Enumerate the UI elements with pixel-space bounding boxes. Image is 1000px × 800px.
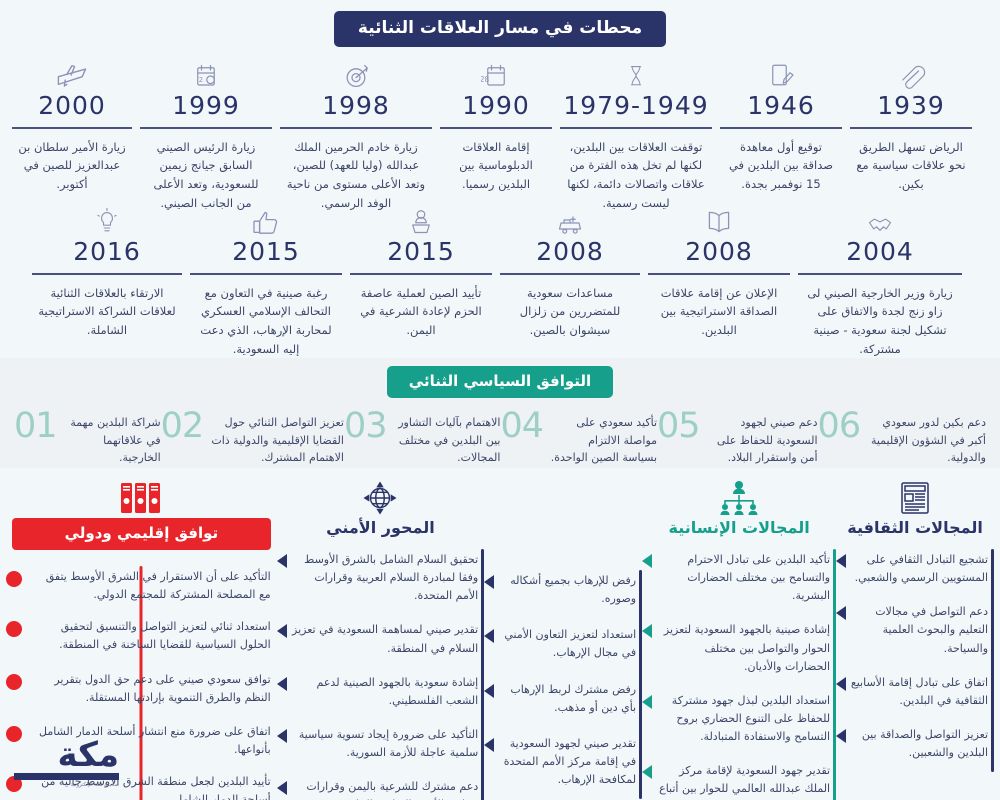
timeline-year: 2015 [350,238,492,270]
timeline-description: الارتقاء بالعلاقات الثنائية لعلاقات الشر… [32,284,182,340]
timeline-year: 2008 [500,238,640,270]
column-item: تقدير جهود السعودية لإقامة مركز الملك عب… [642,762,836,800]
thumbs-up-icon [190,198,342,238]
bullet-dot [6,621,22,637]
timeline-description: الإعلان عن إقامة علاقات الصداقة الاسترات… [648,284,790,340]
timeline-year: 1946 [720,92,842,124]
timeline-description: زيارة وزير الخارجية الصيني لى زاو زنج لج… [798,284,962,359]
timeline-description: زيارة الأمير سلطان بن عبدالعزيز للصين في… [12,138,132,194]
timeline-entry: 281990إقامة العلاقات الدبلوماسية بين الب… [436,52,556,194]
column-item: دعم مشترك للشرعية باليمن وقرارات مجلس ال… [277,778,485,800]
column-item-text: تحقيق السلام الشامل بالشرق الأوسط وفقا ل… [287,551,485,605]
timeline-entry: 2008مساعدات سعودية للمتضررين من زلزال سي… [496,198,644,340]
bullet-arrow [836,677,846,691]
column-item-text: إشادة صينية بالجهود السعودية لتعزيز الحو… [652,621,836,675]
timeline-entry: 2015تأييد الصين لعملية عاصفة الحزم لإعاد… [346,198,496,340]
column-item: استعداد ثنائي لتعزيز التواصل والتنسيق لت… [6,618,277,654]
org-chart-icon [642,478,836,518]
bullet-dot [6,571,22,587]
column-item: تشجيع التبادل الثقافي على المستويين الرس… [836,551,994,587]
bullet-arrow [836,554,846,568]
timeline-row-2: 2016الارتقاء بالعلاقات الثنائية لعلاقات … [28,198,968,358]
column-item-text: استعداد البلدين لبذل جهود مشتركة للحفاظ … [652,692,836,746]
column-item: تعزيز التواصل والصداقة بين البلدين والشع… [836,726,994,762]
column-items: تشجيع التبادل الثقافي على المستويين الرس… [836,551,994,778]
column-item-text: اتفاق على تبادل إقامة الأسابيع الثقافية … [846,674,994,710]
bullet-arrow [277,781,287,795]
timeline-description: تأييد الصين لعملية عاصفة الحزم لإعادة ال… [350,284,492,340]
column-security-axis-2: رفض للإرهاب بجميع أشكاله وصوره.استعداد ل… [484,478,642,800]
timeline-rule [560,127,712,129]
bullet-arrow [277,677,287,691]
column-item-text: إشادة سعودية بالجهود الصينية لدعم الشعب … [287,674,485,710]
consensus-title: التوافق السياسي الثنائي [387,366,613,398]
bottom-section: توافق إقليمي ودوليالتأكيد على أن الاستقر… [0,470,1000,800]
timeline-rule [12,127,132,129]
column-body: رفض للإرهاب بجميع أشكاله وصوره.استعداد ل… [484,570,642,800]
consensus-text: دعم صيني لجهود السعودية للحفاظ على أمن و… [707,410,818,467]
speaker-podium-icon [350,198,492,238]
column-item: تقدير صيني لجهود السعودية في إقامة مركز … [484,735,642,789]
consensus-item: 04تأكيد سعودي على مواصلة الالتزام بسياسة… [500,410,657,467]
signing-pen-icon [720,52,842,92]
column-item-text: توافق سعودي صيني على دعم حق الدول بتقرير… [22,671,277,707]
bullet-arrow [642,695,652,709]
timeline-rule [32,273,182,275]
infographic-page: محطات في مسار العلاقات الثنائية 2000زيار… [0,0,1000,800]
timeline-year: 1979-1949 [560,92,712,124]
timeline-description: رغبة صينية في التعاون مع التحالف الإسلام… [190,284,342,359]
folders-icon [6,478,277,518]
page-title: محطات في مسار العلاقات الثنائية [334,11,666,47]
consensus-band: التوافق السياسي الثنائي 01شراكة البلدين … [0,358,1000,468]
column-body: تأكيد البلدين على تبادل الاحترام والتسام… [642,549,836,800]
timeline-year: 2016 [32,238,182,270]
column-humanitarian: المجالات الإنسانيةتأكيد البلدين على تباد… [642,478,836,800]
consensus-number: 03 [344,410,387,442]
timeline-entry: 2000زيارة الأمير سلطان بن عبدالعزيز للصي… [8,52,136,194]
bullet-arrow [642,624,652,638]
calendar-28-icon: 28 [440,52,552,92]
bullet-arrow [642,765,652,779]
timeline-entry: 2016الارتقاء بالعلاقات الثنائية لعلاقات … [28,198,186,340]
aid-truck-icon [500,198,640,238]
column-item: اتفاق على تبادل إقامة الأسابيع الثقافية … [836,674,994,710]
timeline-description: إقامة العلاقات الدبلوماسية بين البلدين ر… [440,138,552,194]
consensus-number: 01 [14,410,57,442]
column-item-text: دعم التواصل في مجالات التعليم والبحوث ال… [846,603,994,657]
column-item: التأكيد على ضرورة إيجاد تسوية سياسية سلم… [277,726,485,762]
timeline-row-1: 2000زيارة الأمير سلطان بن عبدالعزيز للصي… [8,52,992,212]
timeline-entry: 1939الرياض تسهل الطريق نحو علاقات سياسية… [846,52,976,194]
timeline-rule [140,127,272,129]
lightbulb-icon [32,198,182,238]
timeline-year: 1998 [280,92,432,124]
timeline-rule [500,273,640,275]
consensus-item: 05دعم صيني لجهود السعودية للحفاظ على أمن… [657,410,818,467]
column-item-text: تقدير جهود السعودية لإقامة مركز الملك عب… [652,762,836,800]
column-body: تشجيع التبادل الثقافي على المستويين الرس… [836,549,994,778]
timeline-year: 1990 [440,92,552,124]
consensus-banner-wrap: التوافق السياسي الثنائي [0,358,1000,398]
bottom-columns: توافق إقليمي ودوليالتأكيد على أن الاستقر… [0,470,1000,800]
column-head-spacer [484,478,642,570]
consensus-text: شراكة البلدين مهمة في علاقاتهما الخارجية… [64,410,161,467]
timeline-entry: 1946توقيع أول معاهدة صداقة بين البلدين ف… [716,52,846,194]
timeline-year: 2008 [648,238,790,270]
timeline-year: 2004 [798,238,962,270]
timeline-row-1-items: 2000زيارة الأمير سلطان بن عبدالعزيز للصي… [8,52,992,212]
timeline-entry: 1979-1949توقفت العلاقات بين البلدين، لكن… [556,52,716,212]
column-title: المجالات الإنسانية [642,518,836,549]
bullet-dot [6,674,22,690]
column-item: دعم التواصل في مجالات التعليم والبحوث ال… [836,603,994,657]
column-title: توافق إقليمي ودولي [12,518,271,550]
column-item: إشادة سعودية بالجهود الصينية لدعم الشعب … [277,674,485,710]
timeline-entry: 21999زيارة الرئيس الصيني السابق جيانج زي… [136,52,276,212]
column-title: المحور الأمني [277,518,485,549]
timeline-rule [350,273,492,275]
column-body: تحقيق السلام الشامل بالشرق الأوسط وفقا ل… [277,549,485,800]
consensus-text: تأكيد سعودي على مواصلة الالتزام بسياسة ا… [550,410,657,467]
column-item: تحقيق السلام الشامل بالشرق الأوسط وفقا ل… [277,551,485,605]
newspaper-icon [836,478,994,518]
consensus-text: الاهتمام بآليات التشاور بين البلدين في م… [393,410,500,467]
timeline-year: 1999 [140,92,272,124]
timeline-year: 2000 [12,92,132,124]
column-security-axis: المحور الأمنيتحقيق السلام الشامل بالشرق … [277,478,485,800]
column-item-text: التأكيد على أن الاستقرار في الشرق الأوسط… [22,568,277,604]
calendar-icon: 2 [140,52,272,92]
bullet-arrow [484,738,494,752]
consensus-number: 04 [500,410,543,442]
column-item: تقدير صيني لمساهمة السعودية في تعزيز الس… [277,621,485,657]
svg-text:28: 28 [481,75,489,84]
column-item-text: استعداد لتعزيز التعاون الأمني في مجال ال… [494,626,642,662]
column-item-text: التأكيد على ضرورة إيجاد تسوية سياسية سلم… [287,726,485,762]
timeline-description: توقيع أول معاهدة صداقة بين البلدين في 15… [720,138,842,194]
consensus-item: 06دعم بكين لدور سعودي أكبر في الشؤون الإ… [818,410,986,467]
consensus-item: 02تعزيز التواصل الثنائي حول القضايا الإق… [161,410,344,467]
timeline-entry: 2015رغبة صينية في التعاون مع التحالف الإ… [186,198,346,358]
timeline-rule [850,127,972,129]
column-item-text: تعزيز التواصل والصداقة بين البلدين والشع… [846,726,994,762]
column-item: توافق سعودي صيني على دعم حق الدول بتقرير… [6,671,277,707]
column-item: التأكيد على أن الاستقرار في الشرق الأوسط… [6,568,277,604]
timeline-rule [720,127,842,129]
target-icon [280,52,432,92]
logo-subtitle: صحيفة مكة الإلكترونية [14,780,119,788]
timeline-rule [280,127,432,129]
bullet-arrow [836,606,846,620]
timeline-entry: 2008الإعلان عن إقامة علاقات الصداقة الاس… [644,198,794,340]
bullet-arrow [277,624,287,638]
column-cultural: المجالات الثقافيةتشجيع التبادل الثقافي ع… [836,478,994,778]
open-book-icon [648,198,790,238]
column-item-text: رفض مشترك لربط الإرهاب بأي دين أو مذهب. [494,681,642,717]
bullet-arrow [484,684,494,698]
timeline-rule [190,273,342,275]
makkah-logo: مكة صحيفة مكة الإلكترونية [14,740,119,788]
globe-compass-icon [277,478,485,518]
handshake-icon [798,198,962,238]
column-title: المجالات الثقافية [836,518,994,549]
column-item-text: تأكيد البلدين على تبادل الاحترام والتسام… [652,551,836,605]
hourglass-icon [560,52,712,92]
consensus-item: 01شراكة البلدين مهمة في علاقاتهما الخارج… [14,410,161,467]
header-banner-wrap: محطات في مسار العلاقات الثنائية [0,0,1000,47]
column-item-text: دعم مشترك للشرعية باليمن وقرارات مجلس ال… [287,778,485,800]
timeline-rule [648,273,790,275]
consensus-number: 02 [161,410,204,442]
timeline-year: 1939 [850,92,972,124]
column-item-text: تقدير صيني لمساهمة السعودية في تعزيز الس… [287,621,485,657]
timeline-entry: 2004زيارة وزير الخارجية الصيني لى زاو زن… [794,198,966,358]
bullet-arrow [484,629,494,643]
column-item: إشادة صينية بالجهود السعودية لتعزيز الحو… [642,621,836,675]
consensus-number: 05 [657,410,700,442]
bullet-arrow [277,729,287,743]
column-items: تأكيد البلدين على تبادل الاحترام والتسام… [642,551,836,800]
bullet-arrow [836,729,846,743]
column-item-text: تقدير صيني لجهود السعودية في إقامة مركز … [494,735,642,789]
consensus-text: تعزيز التواصل الثنائي حول القضايا الإقلي… [210,410,344,467]
bullet-arrow [277,554,287,568]
column-item-text: استعداد ثنائي لتعزيز التواصل والتنسيق لت… [22,618,277,654]
column-item: استعداد البلدين لبذل جهود مشتركة للحفاظ … [642,692,836,746]
airplane-icon [12,52,132,92]
timeline-rule [798,273,962,275]
column-item: رفض مشترك لربط الإرهاب بأي دين أو مذهب. [484,681,642,717]
bullet-arrow [642,554,652,568]
column-item-text: رفض للإرهاب بجميع أشكاله وصوره. [494,572,642,608]
timeline-rule [440,127,552,129]
timeline-description: الرياض تسهل الطريق نحو علاقات سياسية مع … [850,138,972,194]
column-item: استعداد لتعزيز التعاون الأمني في مجال ال… [484,626,642,662]
timeline-year: 2015 [190,238,342,270]
timeline-description: مساعدات سعودية للمتضررين من زلزال سيشوان… [500,284,640,340]
timeline-entry: 1998زيارة خادم الحرمين الملك عبدالله (ول… [276,52,436,212]
consensus-number: 06 [818,410,861,442]
column-item-text: تشجيع التبادل الثقافي على المستويين الرس… [846,551,994,587]
column-items: تحقيق السلام الشامل بالشرق الأوسط وفقا ل… [277,551,485,800]
column-item: رفض للإرهاب بجميع أشكاله وصوره. [484,572,642,608]
column-items: رفض للإرهاب بجميع أشكاله وصوره.استعداد ل… [484,572,642,800]
consensus-items: 01شراكة البلدين مهمة في علاقاتهما الخارج… [0,398,1000,467]
bullet-arrow [484,575,494,589]
consensus-item: 03الاهتمام بآليات التشاور بين البلدين في… [344,410,501,467]
timeline-row-2-items: 2016الارتقاء بالعلاقات الثنائية لعلاقات … [28,198,968,358]
consensus-text: دعم بكين لدور سعودي أكبر في الشؤون الإقل… [867,410,986,467]
svg-text:2: 2 [199,76,203,84]
logo-wordmark: مكة [14,740,119,771]
paperclip-icon [850,52,972,92]
column-item: تأكيد البلدين على تبادل الاحترام والتسام… [642,551,836,605]
